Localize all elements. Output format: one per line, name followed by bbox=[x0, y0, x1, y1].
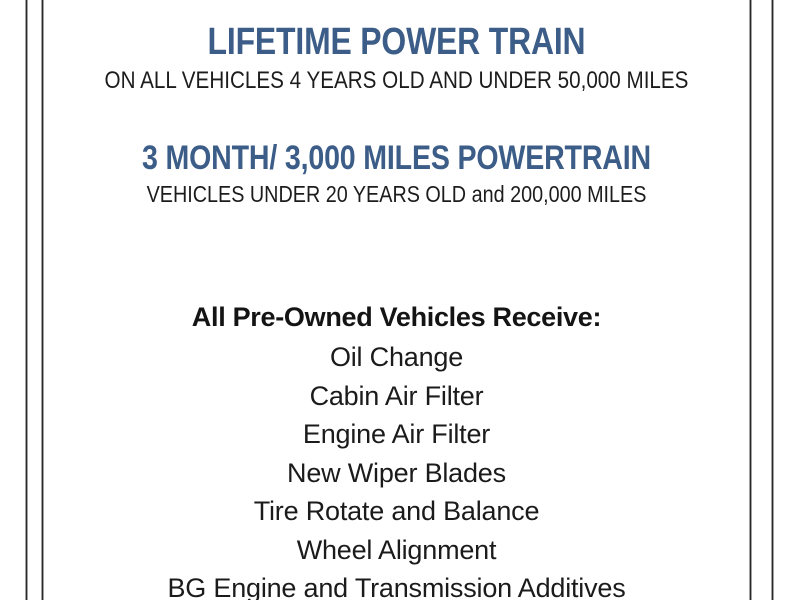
services-title: All Pre-Owned Vehicles Receive: bbox=[44, 300, 749, 334]
warranty-program-three-month: 3 MONTH/ 3,000 MILES POWERTRAIN VEHICLES… bbox=[44, 140, 749, 207]
service-list: Oil Change Cabin Air Filter Engine Air F… bbox=[44, 338, 749, 600]
warranty-subline: ON ALL VEHICLES 4 YEARS OLD AND UNDER 50… bbox=[93, 68, 699, 94]
list-item: BG Engine and Transmission Additives bbox=[44, 569, 749, 600]
warranty-headline: 3 MONTH/ 3,000 MILES POWERTRAIN bbox=[100, 140, 692, 176]
list-item: Cabin Air Filter bbox=[44, 377, 749, 416]
warranty-program-lifetime: LIFETIME POWER TRAIN ON ALL VEHICLES 4 Y… bbox=[44, 22, 749, 94]
list-item: New Wiper Blades bbox=[44, 454, 749, 493]
list-item: Oil Change bbox=[44, 338, 749, 377]
warranty-subline: VEHICLES UNDER 20 YEARS OLD and 200,000 … bbox=[93, 182, 699, 207]
frame-rule-right-outer bbox=[771, 0, 774, 600]
services-section: All Pre-Owned Vehicles Receive: Oil Chan… bbox=[44, 300, 749, 600]
frame-rule-left-outer bbox=[25, 0, 28, 600]
list-item: Engine Air Filter bbox=[44, 415, 749, 454]
list-item: Tire Rotate and Balance bbox=[44, 492, 749, 531]
list-item: Wheel Alignment bbox=[44, 531, 749, 570]
warranty-headline: LIFETIME POWER TRAIN bbox=[100, 22, 692, 62]
frame-rule-right-inner bbox=[749, 0, 752, 600]
flyer-content: LIFETIME POWER TRAIN ON ALL VEHICLES 4 Y… bbox=[44, 0, 749, 600]
warranty-flyer: LIFETIME POWER TRAIN ON ALL VEHICLES 4 Y… bbox=[0, 0, 800, 600]
